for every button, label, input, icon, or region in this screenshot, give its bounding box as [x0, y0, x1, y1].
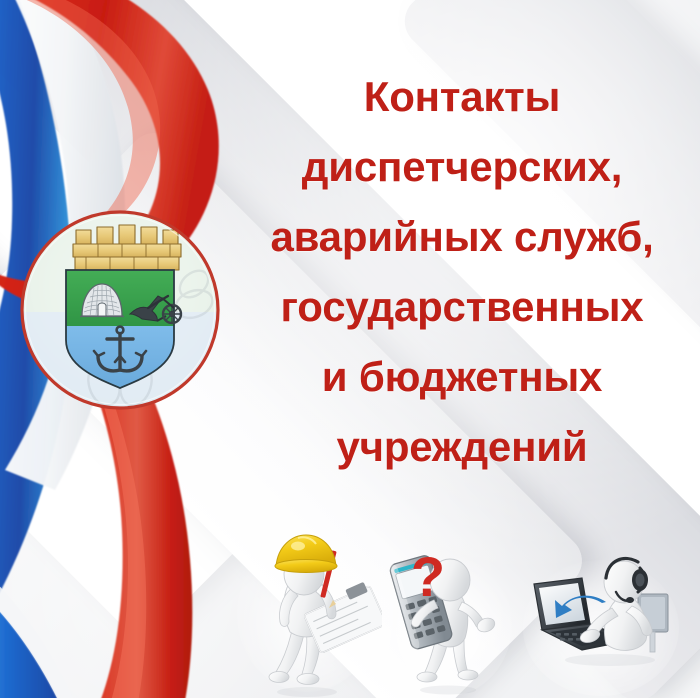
figure-operator-with-headset — [520, 548, 682, 698]
title-line-3: аварийных служб, — [236, 202, 688, 272]
figure-worker-with-clipboard — [232, 522, 382, 698]
figure-person-with-phone: ? — [382, 540, 514, 698]
poster-root: Контакты диспетчерских, аварийных служб,… — [0, 0, 700, 698]
title-line-2: диспетчерских, — [236, 132, 688, 202]
mural-crown-icon — [73, 225, 181, 270]
question-mark-icon: ? — [411, 545, 445, 608]
title-line-6: учреждений — [236, 412, 688, 482]
title-line-5: и бюджетных — [236, 342, 688, 412]
coat-of-arms-emblem — [18, 208, 222, 412]
title-line-4: государственных — [236, 272, 688, 342]
title-line-1: Контакты — [236, 62, 688, 132]
headset-mic — [626, 597, 634, 603]
page-title: Контакты диспетчерских, аварийных служб,… — [236, 62, 688, 482]
